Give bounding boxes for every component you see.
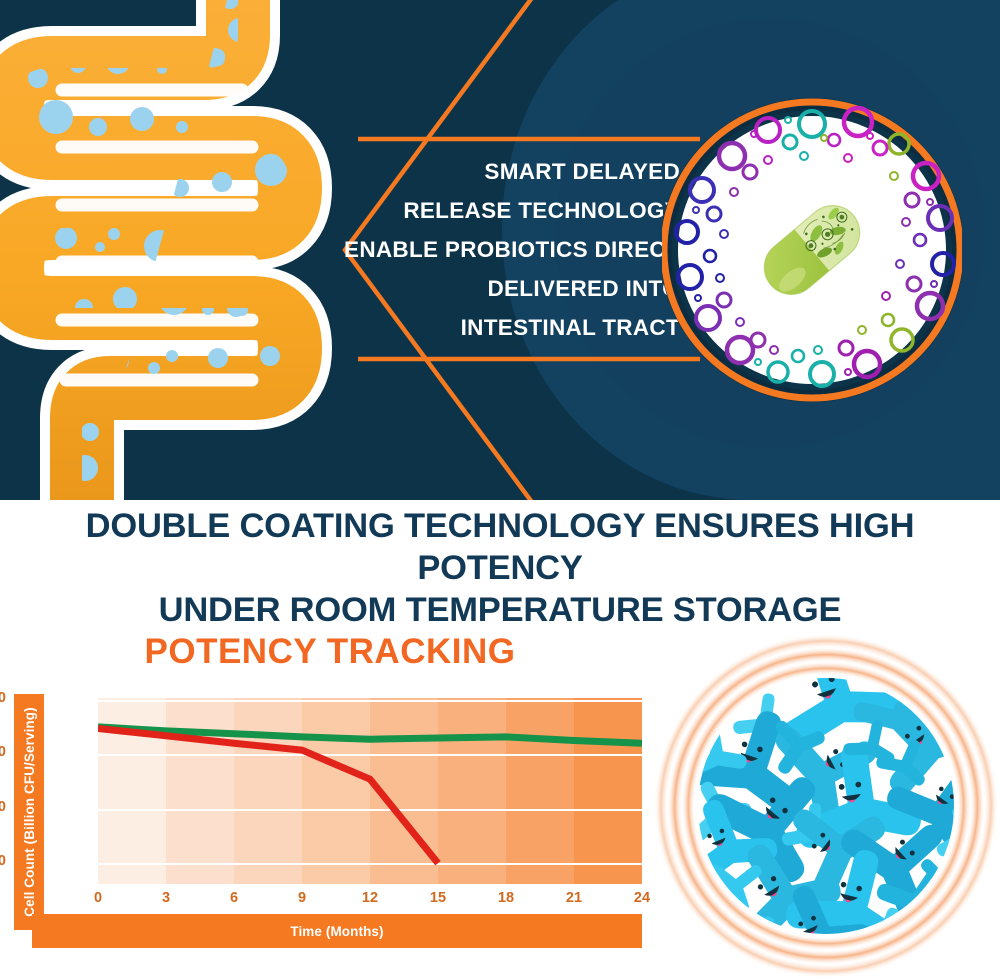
chart-plot-area — [98, 698, 642, 884]
x-tick-label: 6 — [214, 890, 254, 906]
y-axis-label: Cell Count (Billion CFU/Serving) — [14, 694, 44, 930]
headline-line-1: DOUBLE COATING TECHNOLOGY ENSURES HIGH P… — [86, 507, 915, 587]
chart-title: POTENCY TRACKING — [0, 632, 660, 672]
callout-text-block: SMART DELAYED RELEASE TECHNOLOGY ENABLE … — [300, 152, 680, 347]
callout-line-1: SMART DELAYED — [300, 152, 680, 191]
callout-line-2: RELEASE TECHNOLOGY — [300, 191, 680, 230]
probiotic-bacteria-circle-illustration — [652, 632, 1000, 980]
x-tick-label: 0 — [78, 890, 118, 906]
y-tick-label: 100.00 — [0, 690, 6, 706]
x-tick-label: 9 — [282, 890, 322, 906]
x-tick-label: 12 — [350, 890, 390, 906]
x-axis-label: Time (Months) — [32, 914, 642, 948]
callout-line-5: INTESTINAL TRACT — [300, 308, 680, 347]
top-hero-panel: SMART DELAYED RELEASE TECHNOLOGY ENABLE … — [0, 0, 1000, 500]
y-axis-bar: Cell Count (Billion CFU/Serving) — [14, 694, 44, 930]
callout-line-4: DELIVERED INTO — [300, 269, 680, 308]
callout-line-3: ENABLE PROBIOTICS DIRECT — [300, 230, 680, 269]
y-tick-label: 1.00 — [0, 799, 6, 815]
x-tick-label: 15 — [418, 890, 458, 906]
x-tick-label: 3 — [146, 890, 186, 906]
chart-series-lines — [98, 698, 642, 884]
y-tick-label: 10.00 — [0, 744, 6, 760]
petri-dish-capsule-illustration — [662, 72, 962, 427]
y-tick-label: 0.00 — [0, 853, 6, 869]
series-line-uncoated — [98, 728, 438, 863]
potency-tracking-chart: Cell Count (Billion CFU/Serving) Time (M… — [14, 694, 642, 952]
x-axis-bar: Time (Months) — [32, 914, 642, 948]
headline-line-2: UNDER ROOM TEMPERATURE STORAGE — [0, 589, 1000, 631]
x-tick-label: 21 — [554, 890, 594, 906]
x-tick-label: 18 — [486, 890, 526, 906]
section-headline: DOUBLE COATING TECHNOLOGY ENSURES HIGH P… — [0, 505, 1000, 631]
